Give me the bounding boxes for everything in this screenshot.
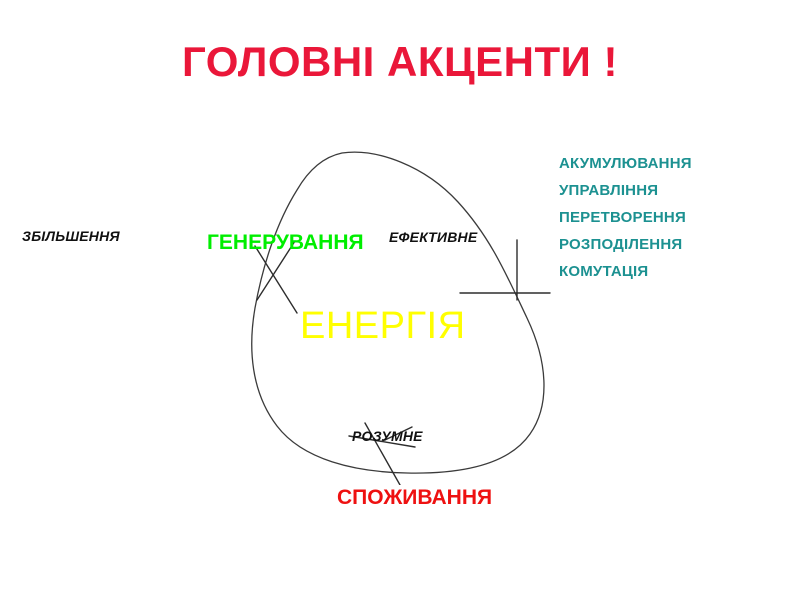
keyword-item: РОЗПОДІЛЕННЯ xyxy=(559,231,794,258)
label-generation: ГЕНЕРУВАННЯ xyxy=(207,230,317,255)
label-smart: РОЗУМНЕ xyxy=(352,428,423,444)
label-increase: ЗБІЛЬШЕННЯ xyxy=(22,228,120,244)
keyword-item: АКУМУЛЮВАННЯ xyxy=(559,150,794,177)
arrowhead-effective xyxy=(460,240,550,300)
keyword-item: КОМУТАЦІЯ xyxy=(559,258,794,285)
label-effective: ЕФЕКТИВНЕ xyxy=(389,229,477,245)
keyword-item: ПЕРЕТВОРЕННЯ xyxy=(559,204,794,231)
page-title: ГОЛОВНІ АКЦЕНТИ ! xyxy=(0,38,800,86)
label-energy-center: ЕНЕРГІЯ xyxy=(300,305,466,347)
keyword-list: АКУМУЛЮВАННЯ УПРАВЛІННЯ ПЕРЕТВОРЕННЯ РОЗ… xyxy=(559,150,794,285)
label-consumption: СПОЖИВАННЯ xyxy=(337,485,437,510)
slide-canvas: ГОЛОВНІ АКЦЕНТИ ! ЗБІЛЬШЕННЯ xyxy=(0,0,800,600)
keyword-item: УПРАВЛІННЯ xyxy=(559,177,794,204)
